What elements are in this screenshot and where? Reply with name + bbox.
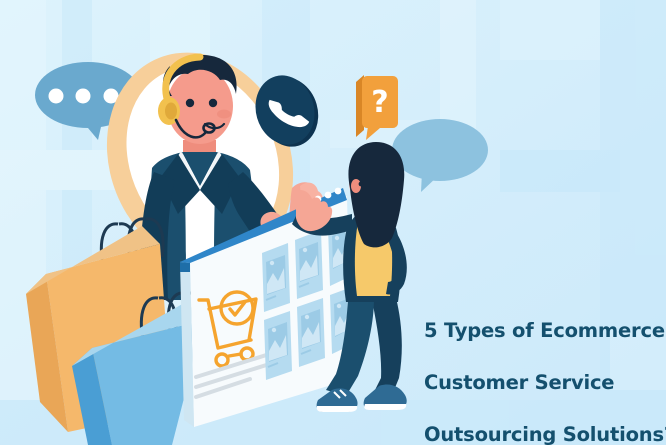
product-card xyxy=(262,243,290,312)
product-card xyxy=(297,298,325,367)
chat-dot-1 xyxy=(49,89,64,104)
question-mark-glyph: ? xyxy=(371,85,388,120)
speech-bubble-icon xyxy=(392,119,488,192)
agent-eye-left xyxy=(186,99,194,107)
product-card xyxy=(295,230,323,299)
question-mark-bubble-icon: ? xyxy=(356,75,398,140)
headline-text: 5 Types of Ecommerce Customer Service Ou… xyxy=(424,292,664,445)
illustration-canvas: ? xyxy=(0,0,666,445)
headline-line-1: 5 Types of Ecommerce xyxy=(424,318,664,344)
shoe-front xyxy=(317,388,358,412)
agent-eye-right xyxy=(209,99,217,107)
chat-dot-2 xyxy=(76,89,91,104)
headline-line-3: Outsourcing Solutions? xyxy=(424,422,664,445)
customer-eye xyxy=(359,182,364,187)
shoe-back xyxy=(364,384,407,410)
headline-line-2: Customer Service xyxy=(424,370,664,396)
product-card xyxy=(264,311,292,380)
